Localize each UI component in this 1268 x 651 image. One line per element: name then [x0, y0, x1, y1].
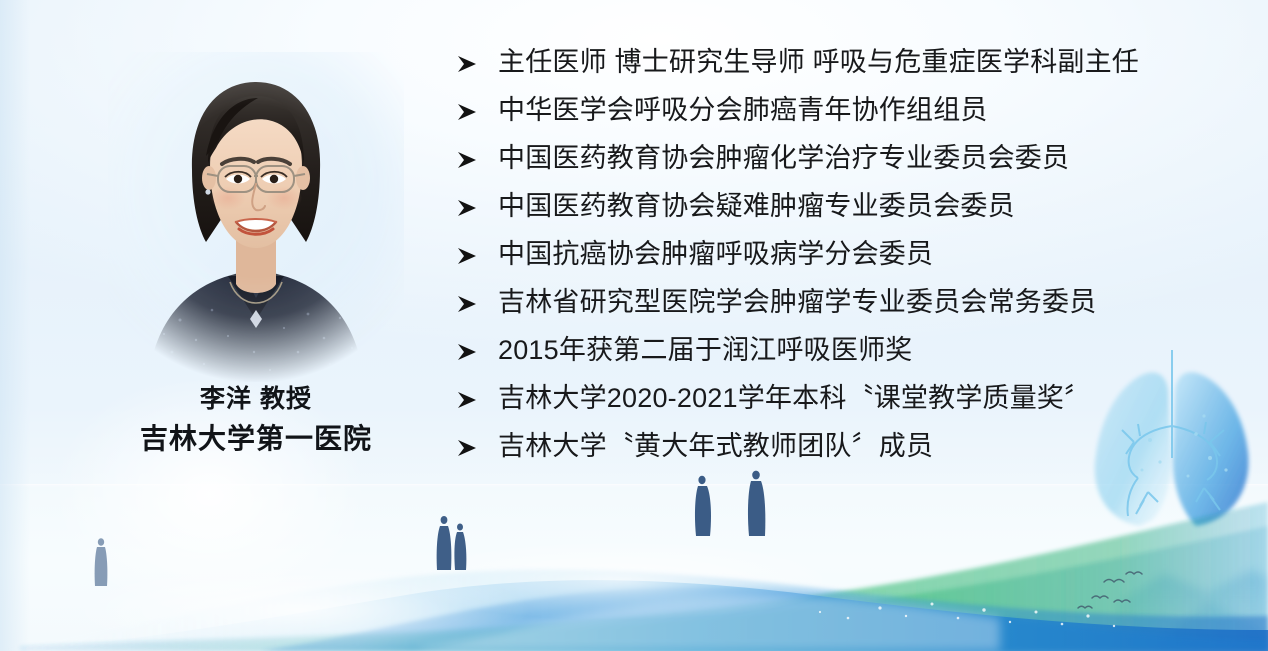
arrowhead-bullet-icon — [456, 90, 498, 122]
arrowhead-bullet-icon — [456, 186, 498, 218]
mountain-silhouette-icon — [1118, 570, 1268, 651]
arrowhead-bullet-icon — [456, 330, 498, 362]
list-item: 吉林省研究型医院学会肿瘤学专业委员会常务委员 — [456, 282, 1216, 330]
speaker-caption: 李洋 教授 吉林大学第一医院 — [86, 382, 426, 458]
list-item: 吉林大学2020-2021学年本科〝课堂教学质量奖〞 — [456, 378, 1216, 426]
list-item-label: 中国医药教育协会肿瘤化学治疗专业委员会委员 — [498, 138, 1069, 178]
arrowhead-bullet-icon — [456, 138, 498, 170]
list-item-label: 吉林大学〝黄大年式教师团队〞成员 — [498, 426, 933, 466]
arrowhead-bullet-icon — [456, 282, 498, 314]
arrowhead-bullet-icon — [456, 378, 498, 410]
biography-list: 主任医师 博士研究生导师 呼吸与危重症医学科副主任 中华医学会呼吸分会肺癌青年协… — [456, 42, 1216, 474]
speaker-affiliation: 吉林大学第一医院 — [86, 420, 426, 458]
wave-foam-sparkles — [819, 603, 1115, 628]
arrowhead-bullet-icon — [456, 234, 498, 266]
list-item: 中国医药教育协会肿瘤化学治疗专业委员会委员 — [456, 138, 1216, 186]
arrowhead-bullet-icon — [456, 42, 498, 74]
list-item-label: 中国医药教育协会疑难肿瘤专业委员会委员 — [498, 186, 1015, 226]
list-item: 主任医师 博士研究生导师 呼吸与危重症医学科副主任 — [456, 42, 1216, 90]
arrowhead-bullet-icon — [456, 426, 498, 458]
list-item: 吉林大学〝黄大年式教师团队〞成员 — [456, 426, 1216, 474]
background-band-divider — [0, 484, 1268, 487]
list-item: 中国医药教育协会疑难肿瘤专业委员会委员 — [456, 186, 1216, 234]
left-edge-tint — [0, 0, 30, 651]
flying-birds-icon — [1078, 572, 1142, 608]
list-item: 中华医学会呼吸分会肺癌青年协作组组员 — [456, 90, 1216, 138]
list-item: 中国抗癌协会肿瘤呼吸病学分会委员 — [456, 234, 1216, 282]
list-item-label: 吉林省研究型医院学会肿瘤学专业委员会常务委员 — [498, 282, 1096, 322]
list-item-label: 吉林大学2020-2021学年本科〝课堂教学质量奖〞 — [498, 378, 1091, 418]
portrait-photo-image — [108, 52, 404, 382]
people-silhouettes-icon — [95, 471, 766, 586]
list-item-label: 主任医师 博士研究生导师 呼吸与危重症医学科副主任 — [498, 42, 1139, 82]
list-item-label: 中华医学会呼吸分会肺癌青年协作组组员 — [498, 90, 988, 130]
list-item-label: 中国抗癌协会肿瘤呼吸病学分会委员 — [498, 234, 933, 274]
flowing-ribbon-wave-icon — [0, 502, 1268, 651]
list-item-label: 2015年获第二届于润江呼吸医师奖 — [498, 330, 912, 370]
slide-canvas: 李洋 教授 吉林大学第一医院 主任医师 博士研究生导师 呼吸与危重症医学科副主任… — [0, 0, 1268, 651]
blue-wave-ribbon — [0, 540, 1268, 651]
speaker-name: 李洋 教授 — [86, 382, 426, 416]
lower-background-band — [0, 486, 1268, 651]
list-item: 2015年获第二届于润江呼吸医师奖 — [456, 330, 1216, 378]
portrait-photo — [108, 52, 404, 382]
